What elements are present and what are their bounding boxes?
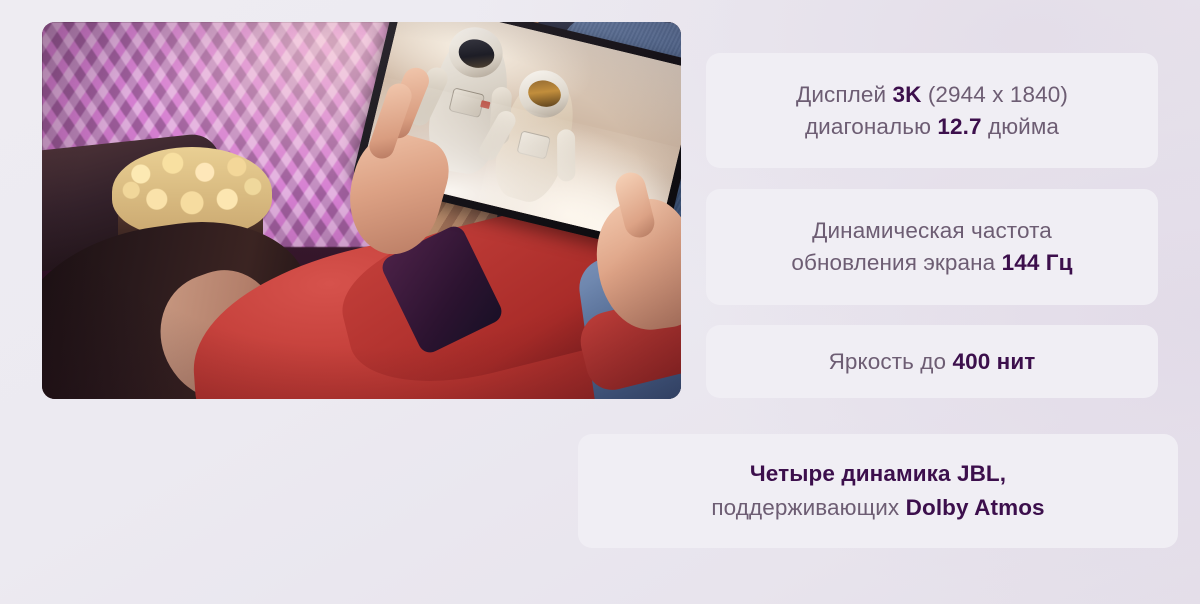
- brightness-line1-prefix: Яркость до: [829, 349, 953, 374]
- refresh-line2-bold: 144 Гц: [1002, 250, 1073, 275]
- brightness-spec-card: Яркость до 400 нит: [706, 325, 1158, 398]
- display-line2-suffix: дюйма: [982, 114, 1059, 139]
- display-line1-prefix: Дисплей: [796, 82, 893, 107]
- display-line2-prefix: диагональю: [805, 114, 937, 139]
- refresh-rate-spec-card: Динамическая частота обновления экрана 1…: [706, 189, 1158, 305]
- audio-spec-card: Четыре динамика JBL, поддерживающих Dolb…: [578, 434, 1178, 548]
- promo-page: Дисплей 3K (2944 х 1840) диагональю 12.7…: [0, 0, 1200, 604]
- photo-scene: [42, 22, 681, 399]
- brightness-line1-bold: 400 нит: [952, 349, 1035, 374]
- audio-line2-bold: Dolby Atmos: [906, 495, 1045, 520]
- audio-line2-prefix: поддерживающих: [711, 495, 905, 520]
- audio-line1: Четыре динамика JBL,: [750, 461, 1006, 486]
- brightness-spec-text: Яркость до 400 нит: [803, 346, 1062, 378]
- audio-line2: поддерживающих Dolby Atmos: [711, 495, 1044, 520]
- audio-spec-text: Четыре динамика JBL, поддерживающих Dolb…: [685, 457, 1070, 525]
- lifestyle-photo: [42, 22, 681, 399]
- display-line1-bold: 3K: [893, 82, 922, 107]
- display-spec-text: Дисплей 3K (2944 х 1840) диагональю 12.7…: [770, 79, 1094, 143]
- display-line2-bold: 12.7: [937, 114, 981, 139]
- display-spec-card: Дисплей 3K (2944 х 1840) диагональю 12.7…: [706, 53, 1158, 168]
- refresh-rate-spec-text: Динамическая частота обновления экрана 1…: [765, 215, 1098, 279]
- refresh-line1-prefix: Динамическая частота: [812, 218, 1052, 243]
- refresh-line2-prefix: обновления экрана: [791, 250, 1001, 275]
- display-line1-suffix: (2944 х 1840): [921, 82, 1068, 107]
